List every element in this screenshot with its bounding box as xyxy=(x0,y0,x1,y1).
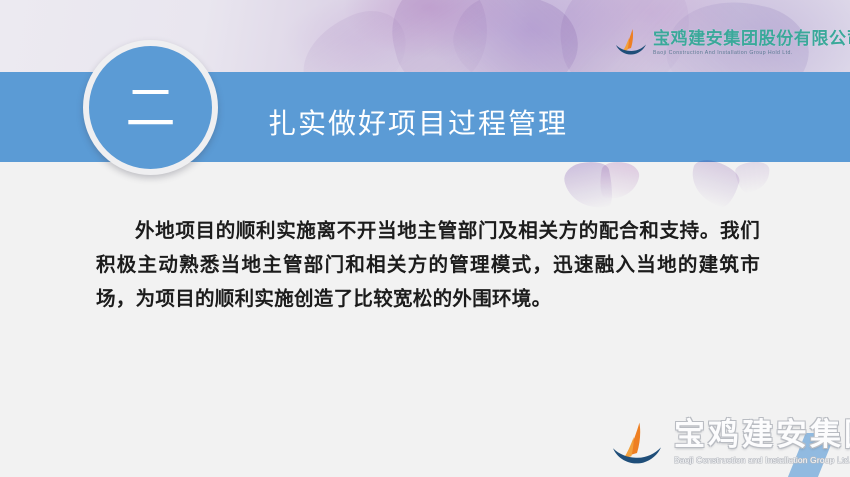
petal-shape-icon xyxy=(735,160,772,193)
header-logo-company-en: Baoji Construction And Installation Grou… xyxy=(653,51,850,56)
slide-body-paragraph: 外地项目的顺利实施离不开当地主管部门及相关方的配合和支持。我们积极主动熟悉当地主… xyxy=(96,214,760,316)
header-company-logo: 宝鸡建安集团股份有限公司 Baoji Construction And Inst… xyxy=(614,28,850,58)
section-number-label: 二 xyxy=(126,83,176,133)
petal-shape-icon xyxy=(597,159,641,203)
section-title-text: 扎实做好项目过程管理 xyxy=(268,102,568,142)
footer-logo-company-en: Baoji Construction and Installation Grou… xyxy=(674,456,850,464)
footer-logo-company-cn: 宝鸡建安集团 xyxy=(674,419,850,450)
sail-swoosh-logo-icon xyxy=(614,28,648,58)
footer-logo-text: 宝鸡建安集团 Baoji Construction and Installati… xyxy=(674,419,850,464)
section-number-badge: 二 xyxy=(83,40,218,175)
header-logo-text: 宝鸡建安集团股份有限公司 Baoji Construction And Inst… xyxy=(653,30,850,56)
sail-swoosh-logo-icon xyxy=(608,421,666,469)
header-logo-company-cn: 宝鸡建安集团股份有限公司 xyxy=(653,30,850,47)
footer-company-logo: 宝鸡建安集团 Baoji Construction and Installati… xyxy=(600,413,850,473)
presentation-slide: 宝鸡建安集团股份有限公司 Baoji Construction And Inst… xyxy=(0,0,850,477)
petal-shape-icon xyxy=(685,156,743,210)
